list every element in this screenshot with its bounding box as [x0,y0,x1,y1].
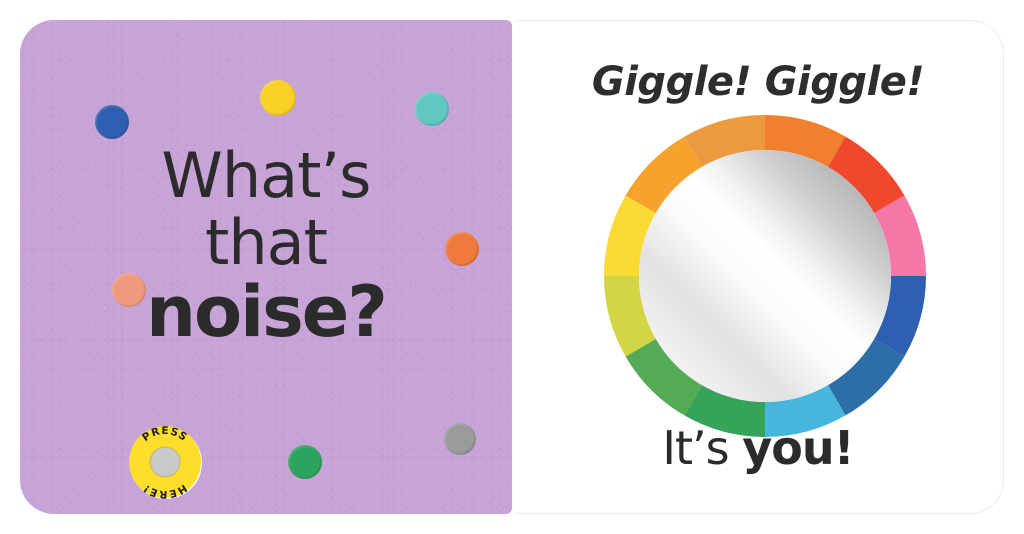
dot-yellow[interactable] [260,80,296,116]
title-line-2: that [20,213,512,274]
title-line-3: noise? [20,278,512,347]
dot-peach[interactable] [112,273,146,307]
dot-green-disc[interactable] [288,445,322,479]
dot-blue[interactable] [95,105,129,139]
mirror-disc[interactable] [639,150,891,402]
dot-blue-disc[interactable] [95,105,129,139]
page-title: What’s that noise? [20,146,512,346]
giggle-heading: Giggle! Giggle! [512,59,1004,105]
dot-teal[interactable] [415,92,449,126]
dot-peach-disc[interactable] [112,273,146,307]
color-wheel[interactable] [600,111,930,441]
dot-teal-disc[interactable] [415,92,449,126]
dot-orange[interactable] [445,232,479,266]
dot-gray-disc[interactable] [444,423,476,455]
left-page-front-cover: What’s that noise? PRESS HERE! [20,20,512,514]
dot-yellow-disc[interactable] [260,80,296,116]
press-here-badge-art[interactable]: PRESS HERE! [128,425,202,499]
its-you-caption: It’s you! [512,421,1004,475]
book-spread: What’s that noise? PRESS HERE! [0,0,1024,534]
title-line-1: What’s [20,146,512,207]
caption-soft-part: It’s [662,421,742,475]
right-page-mirror: Giggle! Giggle! [512,20,1004,514]
dot-orange-disc[interactable] [445,232,479,266]
color-wheel-art[interactable] [600,111,930,441]
dot-gray[interactable] [444,423,476,455]
caption-bold-part: you! [742,421,853,475]
press-here-badge[interactable]: PRESS HERE! [128,425,200,497]
dot-green[interactable] [288,445,322,479]
